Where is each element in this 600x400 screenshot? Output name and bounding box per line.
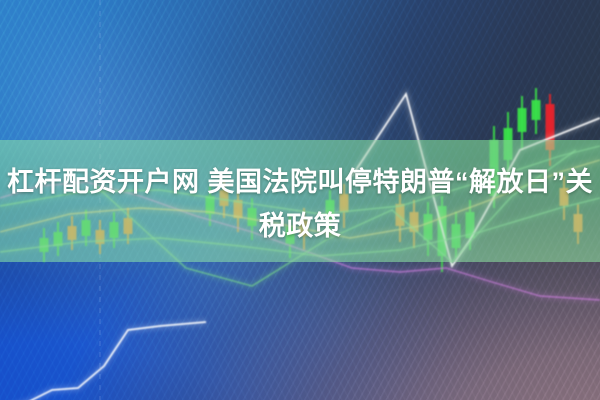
candle-body (518, 108, 527, 132)
candle-body (532, 100, 541, 120)
trend-line (0, 322, 206, 400)
headline-line-2: 税政策 (6, 204, 594, 248)
banner-image: 杠杆配资开户网 美国法院叫停特朗普“解放日”关 税政策 (0, 0, 600, 400)
headline-text: 杠杆配资开户网 美国法院叫停特朗普“解放日”关 税政策 (0, 160, 600, 248)
headline-line-1: 杠杆配资开户网 美国法院叫停特朗普“解放日”关 (6, 160, 594, 204)
trend-line-halo (0, 322, 206, 400)
